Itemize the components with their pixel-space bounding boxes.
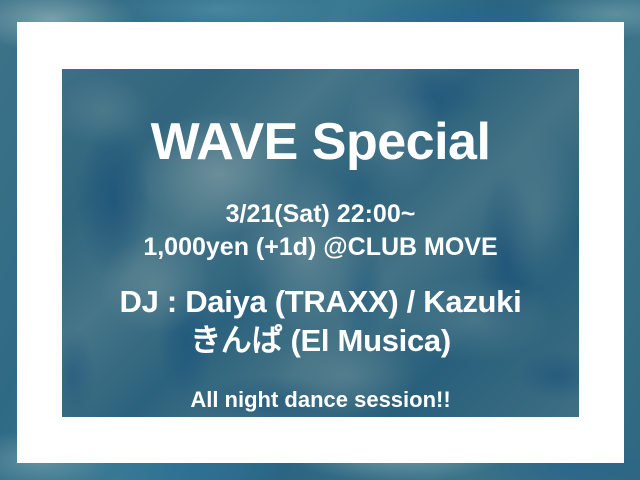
event-price-venue: 1,000yen (+1d) @CLUB MOVE: [143, 231, 497, 264]
dj-lineup-block: DJ : Daiya (TRAXX) / Kazuki きんぱ (El Musi…: [120, 283, 522, 361]
event-datetime: 3/21(Sat) 22:00~: [143, 198, 497, 231]
inner-artwork-panel: WAVE Special 3/21(Sat) 22:00~ 1,000yen (…: [62, 69, 579, 417]
event-info-block: 3/21(Sat) 22:00~ 1,000yen (+1d) @CLUB MO…: [143, 198, 497, 263]
dj-lineup-line-2: きんぱ (El Musica): [120, 322, 522, 361]
tagline-line-2: with good DJs and good music: [158, 414, 483, 417]
flyer-poster: WAVE Special 3/21(Sat) 22:00~ 1,000yen (…: [0, 0, 640, 480]
dj-lineup-line-1: DJ : Daiya (TRAXX) / Kazuki: [120, 283, 522, 322]
tagline-line-1: All night dance session!!: [158, 385, 483, 414]
poster-text-stack: WAVE Special 3/21(Sat) 22:00~ 1,000yen (…: [62, 69, 579, 417]
event-title: WAVE Special: [151, 116, 491, 168]
event-tagline-block: All night dance session!! with good DJs …: [158, 385, 483, 418]
white-frame-border: WAVE Special 3/21(Sat) 22:00~ 1,000yen (…: [17, 22, 624, 463]
